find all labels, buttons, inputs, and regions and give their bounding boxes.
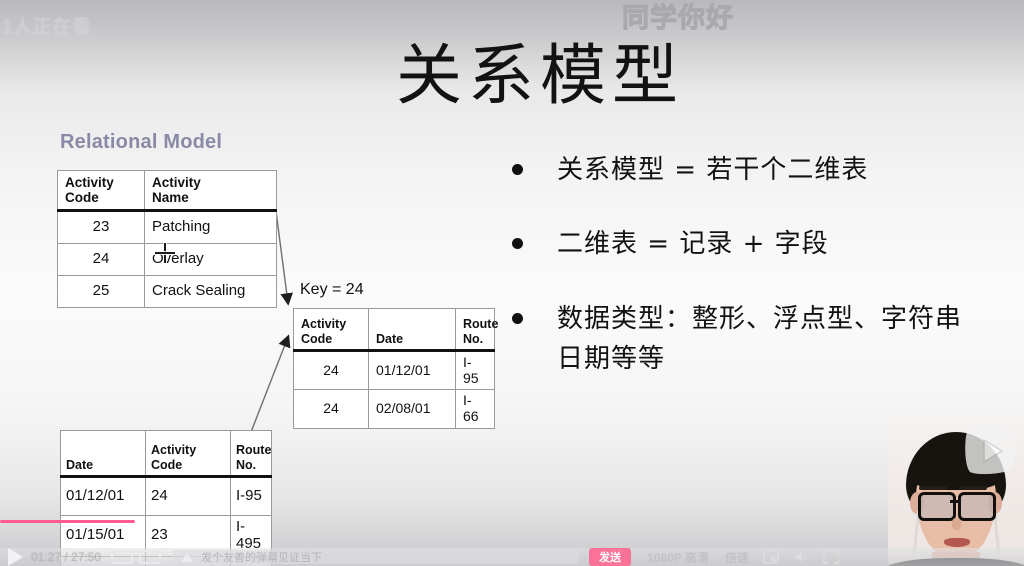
table-cell: 24 — [294, 351, 369, 390]
key-table: Activity Code Date Route No. 24 01/12/01… — [293, 308, 495, 429]
table-cell: 24 — [294, 390, 369, 428]
table-cell: I-66 — [456, 390, 495, 428]
table-cell: 24 — [58, 244, 145, 276]
danmaku-body — [111, 550, 133, 564]
comment-input[interactable]: 发个友善的弹幕见证当下 — [173, 550, 579, 564]
table-row: 25 Crack Sealing — [58, 276, 277, 308]
viewer-count-label: 1人正在看 — [2, 12, 91, 39]
webcam-glasses-left — [918, 492, 956, 521]
webcam-glasses-bridge — [950, 500, 958, 503]
bullet-item: 二维表 = 记录 + 字段 — [512, 224, 1024, 264]
header-line: Activity — [152, 175, 201, 190]
bullet-text: 二维表 = 记录 + 字段 — [557, 224, 829, 264]
header-line: Name — [152, 190, 189, 205]
play-logo-watermark — [962, 426, 1018, 476]
table-cell: 01/12/01 — [61, 477, 146, 516]
webcam-glasses-right — [958, 492, 996, 521]
header-line: Activity — [65, 175, 114, 190]
header-line: Activity — [301, 317, 346, 331]
table-header-row: Date Activity Code Route No. — [61, 431, 272, 477]
bullet-text: 关系模型 = 若干个二维表 — [557, 150, 868, 190]
table-header-cell: Activity Code — [146, 431, 231, 477]
speed-selector[interactable]: 倍速 — [725, 549, 749, 566]
table-cell: 01/12/01 — [369, 351, 456, 390]
table-header-cell: Route No. — [456, 309, 495, 351]
danmaku-toggle-icon[interactable] — [111, 551, 129, 564]
activity-table: Activity Code Activity Name 23 Patching … — [57, 170, 277, 308]
volume-icon[interactable] — [793, 550, 809, 564]
table-header-row: Activity Code Activity Name — [58, 171, 277, 211]
table-row: 01/12/01 24 I-95 — [61, 477, 272, 516]
table-row: 23 Patching — [58, 211, 277, 244]
table-cell: 02/08/01 — [369, 390, 456, 428]
table-cell: I-95 — [231, 477, 272, 516]
bullet-list: 关系模型 = 若干个二维表 二维表 = 记录 + 字段 数据类型：整形、浮点型、… — [512, 150, 1024, 413]
bullet-text: 数据类型：整形、浮点型、字符串 — [557, 304, 962, 334]
danmaku-settings-icon[interactable] — [139, 551, 157, 564]
ink-annotation-stroke — [0, 520, 135, 523]
picture-in-picture-icon[interactable] — [763, 550, 779, 564]
send-button[interactable]: 发送 — [589, 548, 631, 566]
header-line: Activity — [151, 443, 196, 457]
bullet-text-continuation: 日期等等 — [557, 339, 962, 379]
log-table: Date Activity Code Route No. 01/12/01 24… — [60, 430, 272, 566]
table-header-cell: Route No. — [231, 431, 272, 477]
danmaku-body — [139, 550, 161, 564]
bullet-item: 关系模型 = 若干个二维表 — [512, 150, 1024, 190]
comment-placeholder: 发个友善的弹幕见证当下 — [201, 549, 322, 565]
bullet-text-block: 数据类型：整形、浮点型、字符串 日期等等 — [557, 299, 962, 380]
table-cell: Patching — [145, 211, 277, 244]
header-line: Code — [65, 190, 99, 205]
table-row: 24 02/08/01 I-66 — [294, 390, 495, 428]
webcam-overlay[interactable] — [888, 418, 1024, 566]
move-cursor-icon — [155, 243, 175, 263]
bullet-dot-icon — [512, 238, 523, 249]
header-line: Code — [301, 332, 332, 346]
quality-selector[interactable]: 1080P 高清 — [647, 549, 709, 566]
header-line: Code — [151, 458, 182, 472]
bullet-dot-icon — [512, 164, 523, 175]
table-header-cell: Date — [61, 431, 146, 477]
webcam-mouth — [944, 538, 970, 547]
playback-time: 01:27 / 27:50 — [31, 550, 101, 564]
table-row: 24 01/12/01 I-95 — [294, 351, 495, 390]
table-cell: 24 — [146, 477, 231, 516]
section-heading: Relational Model — [60, 131, 222, 154]
table-cell: 25 — [58, 276, 145, 308]
video-player-stage: 1人正在看 同学你好 关系模型 Relational Model Activit… — [0, 0, 1024, 566]
table-header-row: Activity Code Date Route No. — [294, 309, 495, 351]
table-header-cell: Activity Code — [294, 309, 369, 351]
bullet-item: 数据类型：整形、浮点型、字符串 日期等等 — [512, 299, 1024, 380]
webcam-nose — [952, 518, 961, 530]
webcam-eyebrow-left — [919, 486, 947, 490]
table-cell: 23 — [58, 211, 145, 244]
table-header-cell: Activity Code — [58, 171, 145, 211]
comment-icon — [181, 553, 193, 562]
slide-title: 关系模型 — [396, 22, 684, 118]
fullscreen-icon[interactable] — [823, 550, 839, 564]
play-icon[interactable] — [8, 548, 23, 566]
table-header-cell: Activity Name — [145, 171, 277, 211]
bullet-dot-icon — [512, 313, 523, 324]
table-cell: I-95 — [456, 351, 495, 390]
player-control-bar[interactable]: 01:27 / 27:50 发个友善的弹幕见证当下 发送 1080P 高清 倍速 — [0, 548, 1024, 566]
webcam-eyebrow-right — [959, 486, 987, 490]
key-label: Key = 24 — [300, 281, 364, 299]
table-header-cell: Date — [369, 309, 456, 351]
table-cell: Crack Sealing — [145, 276, 277, 308]
